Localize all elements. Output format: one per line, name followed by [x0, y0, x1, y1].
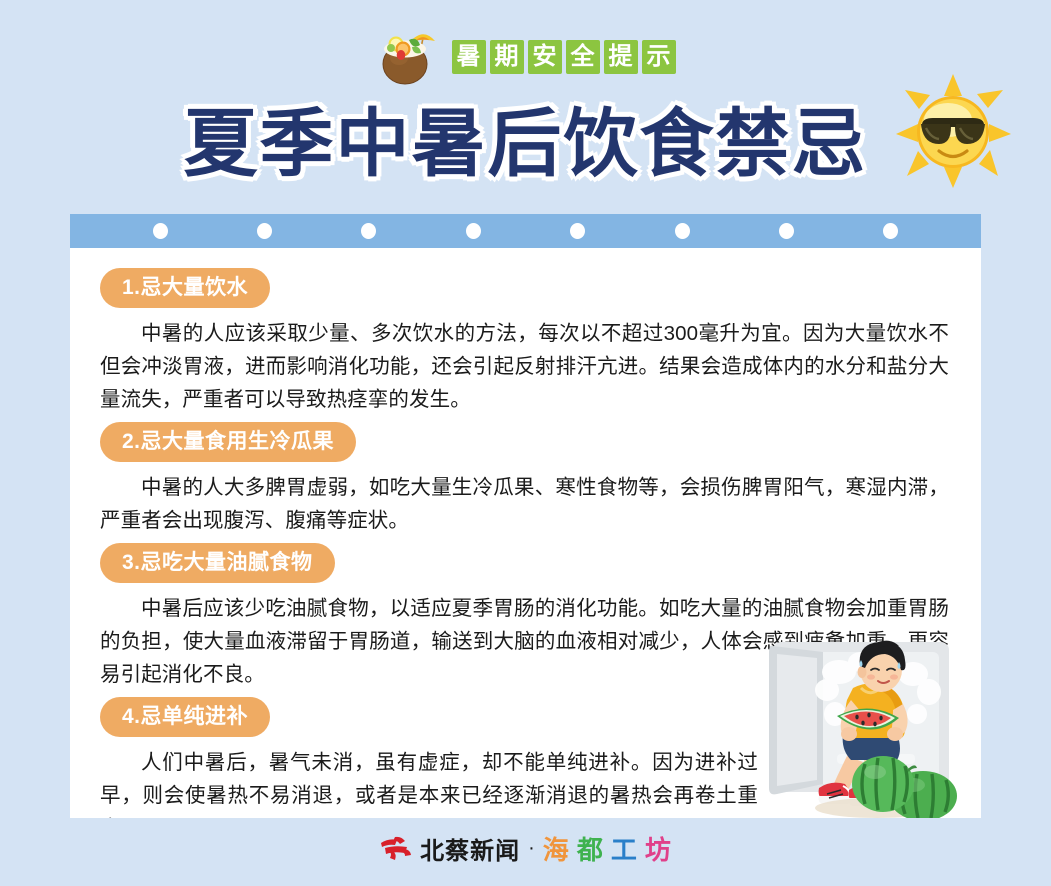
banner-tile-1: 暑	[452, 40, 486, 74]
banner-tile-4: 全	[566, 40, 600, 74]
footer-brand-name: 北蔡新闻	[420, 831, 520, 866]
section-1: 1.忌大量饮水 中暑的人应该采取少量、多次饮水的方法，每次以不超过300毫升为宜…	[100, 268, 951, 416]
footer-sub-char-3: 工	[611, 830, 638, 867]
binding-hole	[883, 223, 898, 239]
section-4-heading: 4.忌单纯进补	[100, 697, 270, 737]
banner-tiles: 暑 期 安 全 提 示	[452, 40, 676, 74]
footer-logo: 北蔡新闻 · 海 都 工 坊	[0, 828, 1051, 868]
binding-hole	[466, 223, 481, 239]
coconut-drink-icon	[376, 28, 438, 86]
card-body: 1.忌大量饮水 中暑的人应该采取少量、多次饮水的方法，每次以不超过300毫升为宜…	[70, 248, 981, 818]
section-3-heading: 3.忌吃大量油腻食物	[100, 543, 335, 583]
footer-sub-char-4: 坊	[645, 830, 672, 867]
banner-tile-5: 提	[604, 40, 638, 74]
footer-sub-char-1: 海	[543, 830, 570, 867]
binding-hole	[257, 223, 272, 239]
red-brush-mark-icon	[379, 835, 413, 861]
section-4: 4.忌单纯进补 人们中暑后，暑气未消，虽有虚症，却不能单纯进补。因为进补过早，则…	[100, 697, 951, 818]
page-title: 夏季中暑后饮食禁忌	[0, 96, 1051, 192]
section-2-body: 中暑的人大多脾胃虚弱，如吃大量生冷瓜果、寒性食物等，会损伤脾胃阳气，寒湿内滞，严…	[100, 471, 951, 537]
section-2-heading: 2.忌大量食用生冷瓜果	[100, 422, 356, 462]
footer-separator: ·	[527, 837, 536, 860]
section-4-body: 人们中暑后，暑气未消，虽有虚症，却不能单纯进补。因为进补过早，则会使暑热不易消退…	[100, 746, 760, 818]
banner-tile-3: 安	[528, 40, 562, 74]
binding-hole	[779, 223, 794, 239]
binding-hole	[675, 223, 690, 239]
binding-hole	[153, 223, 168, 239]
footer-sub-char-2: 都	[577, 830, 604, 867]
section-2: 2.忌大量食用生冷瓜果 中暑的人大多脾胃虚弱，如吃大量生冷瓜果、寒性食物等，会损…	[100, 422, 951, 537]
binding-hole	[361, 223, 376, 239]
section-3: 3.忌吃大量油腻食物 中暑后应该少吃油腻食物，以适应夏季胃肠的消化功能。如吃大量…	[100, 543, 951, 691]
binding-hole	[570, 223, 585, 239]
card-top-binding-strip	[70, 214, 981, 248]
section-1-body: 中暑的人应该采取少量、多次饮水的方法，每次以不超过300毫升为宜。因为大量饮水不…	[100, 317, 951, 416]
section-1-heading: 1.忌大量饮水	[100, 268, 270, 308]
section-3-body: 中暑后应该少吃油腻食物，以适应夏季胃肠的消化功能。如吃大量的油腻食物会加重胃肠的…	[100, 592, 951, 691]
content-card: 1.忌大量饮水 中暑的人应该采取少量、多次饮水的方法，每次以不超过300毫升为宜…	[70, 214, 981, 818]
banner-tile-6: 示	[642, 40, 676, 74]
banner-tile-2: 期	[490, 40, 524, 74]
